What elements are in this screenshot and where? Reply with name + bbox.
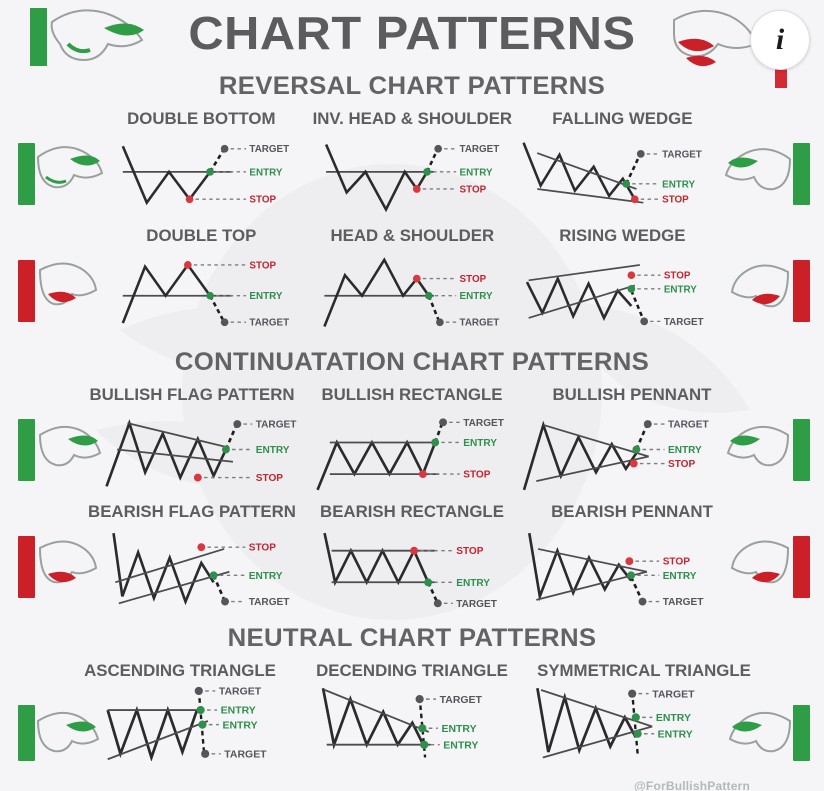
side-bear-left-2: [0, 522, 104, 618]
label-entry: ENTRY: [249, 167, 282, 178]
side-bull-right-3: [720, 681, 824, 761]
label-entry-upper: ENTRY: [221, 706, 256, 717]
label-target: TARGET: [460, 144, 500, 155]
label-stop: STOP: [249, 195, 276, 206]
pattern-row-continuation-bullish: TARGET ENTRY STOP TA: [0, 405, 824, 501]
pattern-inv-head-shoulder: TARGET ENTRY STOP: [309, 129, 514, 225]
side-bull-left-2: [0, 405, 104, 501]
label-target: TARGET: [664, 317, 704, 328]
pattern-title-falling-wedge: FALLING WEDGE: [515, 110, 730, 129]
label-entry: ENTRY: [456, 578, 490, 589]
pattern-title-bullish-pennant: BULLISH PENNANT: [520, 386, 744, 405]
label-stop: STOP: [460, 274, 487, 285]
label-entry: ENTRY: [663, 571, 697, 582]
bear-icon: [32, 530, 104, 606]
label-stop: STOP: [663, 557, 691, 568]
label-target-upper: TARGET: [653, 689, 696, 700]
bull-icon: [32, 415, 104, 487]
watermark-text: @ForBullishPattern: [634, 779, 750, 791]
pattern-ascending-triangle: TARGET ENTRY ENTRY TARGET: [84, 681, 303, 761]
section-title-reversal: REVERSAL CHART PATTERNS: [0, 72, 824, 101]
pattern-title-rising-wedge: RISING WEDGE: [515, 227, 730, 246]
pattern-symmetrical-triangle: TARGET ENTRY ENTRY: [521, 681, 740, 761]
side-bull-right-1: [720, 129, 824, 225]
label-target: TARGET: [456, 599, 498, 610]
label-target: TARGET: [668, 420, 710, 431]
pattern-double-bottom: TARGET ENTRY STOP: [104, 129, 309, 225]
bull-icon: [726, 703, 800, 761]
label-target-lower: TARGET: [224, 749, 267, 760]
pattern-title-double-top: DOUBLE TOP: [94, 227, 309, 246]
label-target: TARGET: [463, 418, 505, 429]
label-stop: STOP: [249, 260, 276, 271]
section-neutral: NEUTRAL CHART PATTERNS ASCENDING TRIANGL…: [0, 624, 824, 761]
pattern-row-neutral: TARGET ENTRY ENTRY TARGET: [0, 681, 824, 761]
pattern-title-head-shoulder: HEAD & SHOULDER: [305, 227, 520, 246]
pattern-double-top: STOP ENTRY TARGET: [104, 246, 309, 342]
label-target: TARGET: [663, 597, 705, 608]
pattern-title-bearish-rectangle: BEARISH RECTANGLE: [300, 503, 524, 522]
label-stop: STOP: [456, 546, 484, 557]
label-stop: STOP: [664, 271, 691, 282]
section-title-continuation: CONTINUATATION CHART PATTERNS: [0, 348, 824, 377]
pattern-row-reversal-bearish: STOP ENTRY TARGET STOP: [0, 246, 824, 342]
label-stop: STOP: [662, 195, 689, 206]
pattern-title-symmetrical-triangle: SYMMETRICAL TRIANGLE: [526, 662, 763, 681]
row-titles-continuation-bullish: BULLISH FLAG PATTERN BULLISH RECTANGLE B…: [0, 386, 824, 405]
pattern-title-inv-head-shoulder: INV. HEAD & SHOULDER: [305, 110, 520, 129]
label-entry: ENTRY: [249, 571, 283, 582]
row-titles-reversal-bullish: DOUBLE BOTTOM INV. HEAD & SHOULDER FALLI…: [0, 110, 824, 129]
poster-header: CHART PATTERNS i: [0, 0, 824, 72]
label-entry: ENTRY: [664, 284, 697, 295]
label-target: TARGET: [662, 149, 702, 160]
pattern-bullish-flag: TARGET ENTRY STOP: [96, 405, 307, 501]
label-entry: ENTRY: [463, 438, 497, 449]
chart-patterns-poster: CHART PATTERNS i REVERSAL CHART PATTERNS…: [0, 0, 824, 791]
label-stop: STOP: [256, 473, 284, 484]
pattern-row-reversal-bullish: TARGET ENTRY STOP TARGET: [0, 129, 824, 225]
pattern-row-continuation-bearish: STOP ENTRY TARGET ST: [0, 522, 824, 618]
label-target: TARGET: [460, 318, 500, 329]
label-entry-lower: ENTRY: [222, 720, 257, 731]
label-stop: STOP: [463, 470, 491, 481]
row-titles-continuation-bearish: BEARISH FLAG PATTERN BEARISH RECTANGLE B…: [0, 503, 824, 522]
pattern-title-ascending-triangle: ASCENDING TRIANGLE: [62, 662, 299, 681]
label-target: TARGET: [249, 597, 291, 608]
pattern-bearish-pennant: STOP ENTRY TARGET: [517, 522, 728, 618]
label-target: TARGET: [249, 144, 289, 155]
pattern-bearish-flag: STOP ENTRY TARGET: [96, 522, 307, 618]
pattern-rising-wedge: STOP ENTRY TARGET: [515, 246, 720, 342]
label-stop: STOP: [460, 184, 487, 195]
label-entry: ENTRY: [662, 179, 695, 190]
section-continuation: CONTINUATATION CHART PATTERNS BULLISH FL…: [0, 348, 824, 618]
pattern-bullish-rectangle: TARGET ENTRY STOP: [307, 405, 518, 501]
row-titles-neutral: ASCENDING TRIANGLE DECENDING TRIANGLE SY…: [0, 662, 824, 681]
bear-icon: [724, 254, 798, 330]
row-titles-reversal-bearish: DOUBLE TOP HEAD & SHOULDER RISING WEDGE: [0, 227, 824, 246]
pattern-falling-wedge: TARGET ENTRY STOP: [515, 129, 720, 225]
label-entry-lower: ENTRY: [658, 729, 693, 740]
pattern-descending-triangle: TARGET ENTRY ENTRY: [303, 681, 522, 761]
section-reversal: REVERSAL CHART PATTERNS DOUBLE BOTTOM IN…: [0, 72, 824, 342]
label-entry: ENTRY: [668, 445, 702, 456]
pattern-title-bearish-flag: BEARISH FLAG PATTERN: [80, 503, 304, 522]
info-icon[interactable]: i: [750, 10, 810, 70]
side-bear-right-1: [720, 246, 824, 342]
label-target-upper: TARGET: [219, 687, 262, 698]
label-target: TARGET: [249, 318, 289, 329]
pattern-bearish-rectangle: STOP ENTRY TARGET: [307, 522, 518, 618]
side-bear-right-2: [720, 522, 824, 618]
label-stop: STOP: [668, 459, 696, 470]
side-bull-right-2: [720, 405, 824, 501]
pattern-bullish-pennant: TARGET ENTRY STOP: [517, 405, 728, 501]
bear-icon: [724, 530, 798, 606]
label-entry: ENTRY: [249, 291, 282, 302]
label-entry-upper: ENTRY: [656, 713, 691, 724]
section-title-neutral: NEUTRAL CHART PATTERNS: [0, 624, 824, 653]
label-entry: ENTRY: [460, 291, 493, 302]
pattern-title-descending-triangle: DECENDING TRIANGLE: [294, 662, 531, 681]
label-entry: ENTRY: [256, 445, 290, 456]
bull-icon: [724, 137, 798, 213]
pattern-title-bullish-rectangle: BULLISH RECTANGLE: [300, 386, 524, 405]
bull-icon: [724, 415, 798, 487]
pattern-head-shoulder: STOP ENTRY TARGET: [309, 246, 514, 342]
bull-icon: [32, 135, 104, 215]
pattern-title-bullish-flag: BULLISH FLAG PATTERN: [80, 386, 304, 405]
side-bear-left-1: [0, 246, 104, 342]
label-target: TARGET: [256, 420, 298, 431]
pattern-title-double-bottom: DOUBLE BOTTOM: [94, 110, 309, 129]
label-stop: STOP: [249, 543, 277, 554]
pattern-title-bearish-pennant: BEARISH PENNANT: [520, 503, 744, 522]
label-entry-lower: ENTRY: [443, 740, 478, 751]
label-entry-upper: ENTRY: [441, 724, 476, 735]
label-target-upper: TARGET: [439, 695, 482, 706]
bear-icon: [32, 252, 104, 332]
side-bull-left-1: [0, 129, 104, 225]
label-entry: ENTRY: [460, 167, 493, 178]
